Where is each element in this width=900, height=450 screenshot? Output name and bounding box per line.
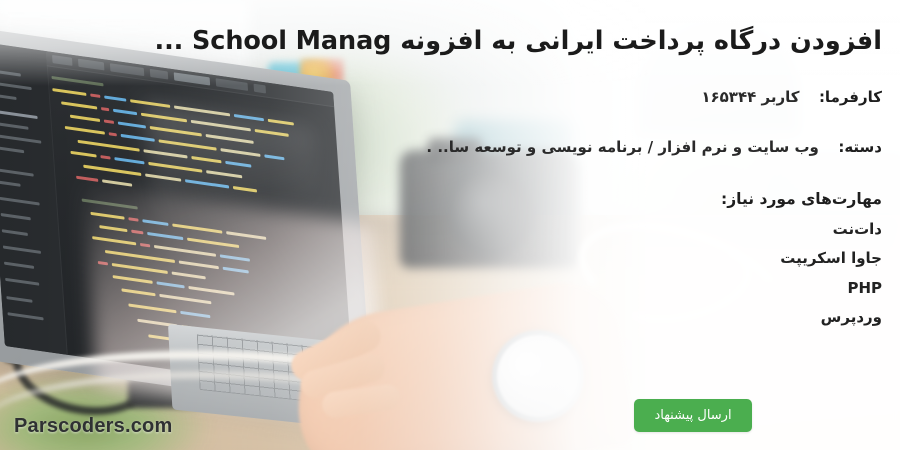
category-value[interactable]: وب سایت و نرم افزار / برنامه نویسی و توس… [426,138,818,156]
employer-label: کارفرما: [819,88,882,106]
skills-title: مهارت‌های مورد نیاز: [452,190,882,208]
submit-proposal-button[interactable]: ارسال پیشنهاد [634,399,752,432]
employer-row: کارفرما: کاربر ۱۶۵۳۴۴ [701,88,882,106]
category-label: دسته: [838,138,882,156]
project-banner: افزودن درگاه پرداخت ایرانی به افزونه Sch… [0,0,900,450]
skill-item[interactable]: دات‌نت [452,221,882,238]
page-title: افزودن درگاه پرداخت ایرانی به افزونه Sch… [110,24,882,58]
skill-item[interactable]: PHP [452,280,882,297]
skills-section: مهارت‌های مورد نیاز: دات‌نت جاوا اسکریپت… [452,190,882,338]
site-watermark: Parscoders.com [14,415,172,438]
banner-content: افزودن درگاه پرداخت ایرانی به افزونه Sch… [0,0,900,450]
skill-item[interactable]: جاوا اسکریپت [452,250,882,267]
skill-item[interactable]: وردپرس [452,309,882,326]
category-row: دسته: وب سایت و نرم افزار / برنامه نویسی… [120,138,882,156]
employer-value[interactable]: کاربر ۱۶۵۳۴۴ [701,88,799,106]
